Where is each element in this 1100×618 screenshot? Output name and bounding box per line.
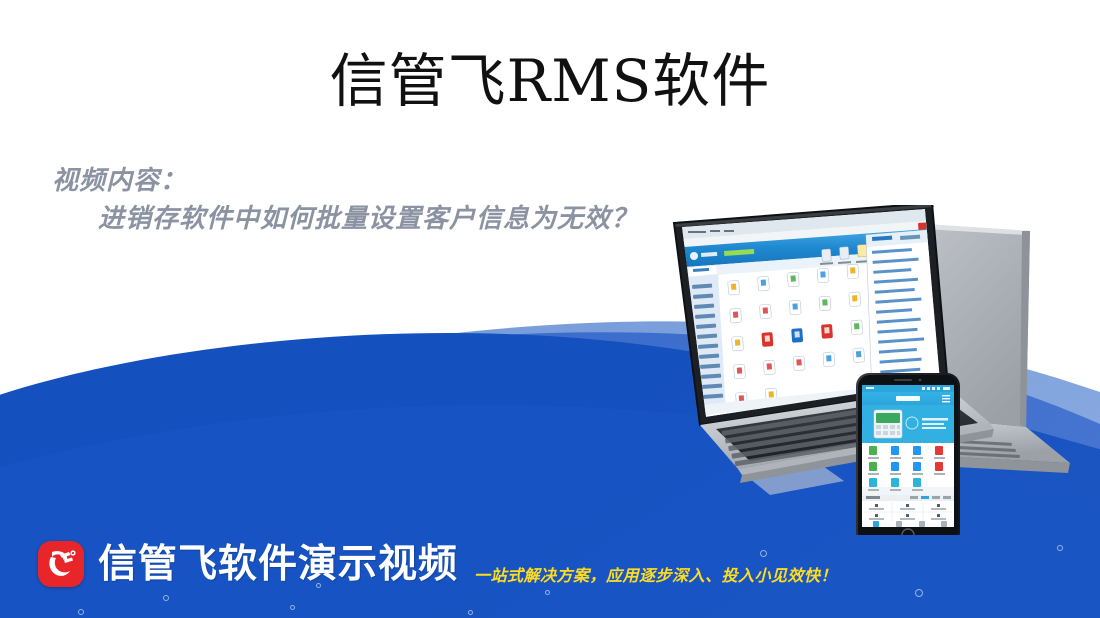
banner-tagline: 一站式解决方案，应用逐步深入、投入小见效快！	[474, 562, 837, 592]
phone-screen	[862, 385, 954, 527]
page-title: 信管飞RMS软件	[0, 48, 1100, 115]
video-content-label: 视频内容：	[52, 162, 652, 200]
xinguanfei-logo-icon	[38, 541, 84, 587]
device-illustration	[470, 205, 1100, 535]
banner-title: 信管飞软件演示视频	[98, 545, 458, 584]
hamburger-icon	[942, 395, 950, 402]
bottom-banner: 信管飞软件演示视频 一站式解决方案，应用逐步深入、投入小见效快！	[0, 528, 1100, 618]
phone-device	[856, 373, 960, 535]
slide-canvas: 信管飞RMS软件 视频内容： 进销存软件中如何批量设置客户信息为无效？	[0, 0, 1100, 618]
